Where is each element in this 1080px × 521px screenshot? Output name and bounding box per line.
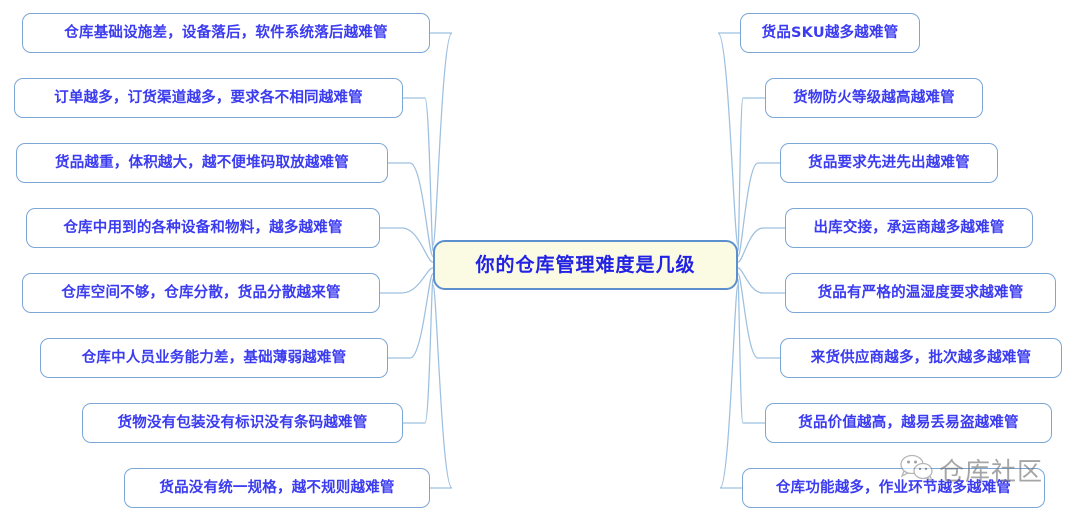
connector-right-6 <box>738 274 780 358</box>
branch-node-left-1[interactable]: 仓库基础设施差，设备落后，软件系统落后越难管 <box>22 13 430 53</box>
branch-node-left-2[interactable]: 订单越多，订货渠道越多，要求各不相同越难管 <box>14 78 403 118</box>
connector-right-3 <box>738 163 780 256</box>
connector-left-6 <box>388 274 433 358</box>
connector-right-7 <box>738 279 765 423</box>
connector-left-5 <box>380 268 433 293</box>
branch-node-label: 货品要求先进先出越难管 <box>808 156 970 171</box>
branch-node-label: 来货供应商越多，批次越多越难管 <box>811 351 1032 366</box>
branch-node-label: 仓库中用到的各种设备和物料，越多越难管 <box>63 221 342 236</box>
connector-right-8 <box>720 285 742 488</box>
branch-node-label: 货物没有包装没有标识没有条码越难管 <box>118 416 368 431</box>
branch-node-right-4[interactable]: 出库交接，承运商越多越难管 <box>785 208 1033 248</box>
central-node-label: 你的仓库管理难度是几级 <box>475 256 695 275</box>
branch-node-label: 仓库基础设施差，设备落后，软件系统落后越难管 <box>64 26 387 41</box>
branch-node-label: 货品价值越高，越易丢易盗越难管 <box>798 416 1019 431</box>
branch-node-label: 仓库功能越多，作业环节越多越难管 <box>776 481 1011 496</box>
branch-node-label: 仓库空间不够，仓库分散，货品分散越来管 <box>61 286 340 301</box>
branch-node-label: 货品越重，体积越大，越不便堆码取放越难管 <box>55 156 349 171</box>
branch-node-left-4[interactable]: 仓库中用到的各种设备和物料，越多越难管 <box>26 208 380 248</box>
branch-node-label: 仓库中人员业务能力差，基础薄弱越难管 <box>82 351 347 366</box>
branch-node-right-6[interactable]: 来货供应商越多，批次越多越难管 <box>780 338 1062 378</box>
connector-right-1 <box>718 33 740 245</box>
connector-right-4 <box>738 228 785 262</box>
connector-left-1 <box>430 33 452 245</box>
branch-node-left-6[interactable]: 仓库中人员业务能力差，基础薄弱越难管 <box>40 338 388 378</box>
connector-left-3 <box>388 163 433 256</box>
branch-node-right-3[interactable]: 货品要求先进先出越难管 <box>780 143 998 183</box>
branch-node-label: 出库交接，承运商越多越难管 <box>813 221 1004 236</box>
branch-node-left-8[interactable]: 货品没有统一规格，越不规则越难管 <box>124 468 430 508</box>
branch-node-label: 订单越多，订货渠道越多，要求各不相同越难管 <box>54 91 363 106</box>
connector-left-2 <box>403 98 433 251</box>
connector-right-5 <box>738 268 785 293</box>
branch-node-label: 货品SKU越多越难管 <box>762 26 899 41</box>
connector-right-2 <box>738 98 765 251</box>
branch-node-left-5[interactable]: 仓库空间不够，仓库分散，货品分散越来管 <box>22 273 380 313</box>
branch-node-label: 货品没有统一规格，越不规则越难管 <box>159 481 394 496</box>
connector-left-4 <box>380 228 433 262</box>
branch-node-right-8[interactable]: 仓库功能越多，作业环节越多越难管 <box>742 468 1045 508</box>
connector-left-7 <box>403 279 433 423</box>
central-node[interactable]: 你的仓库管理难度是几级 <box>433 240 738 290</box>
branch-node-left-7[interactable]: 货物没有包装没有标识没有条码越难管 <box>82 403 403 443</box>
mindmap-canvas: 仓库基础设施差，设备落后，软件系统落后越难管订单越多，订货渠道越多，要求各不相同… <box>0 0 1080 521</box>
branch-node-right-1[interactable]: 货品SKU越多越难管 <box>740 13 920 53</box>
branch-node-right-2[interactable]: 货物防火等级越高越难管 <box>765 78 983 118</box>
branch-node-right-5[interactable]: 货品有严格的温湿度要求越难管 <box>785 273 1056 313</box>
branch-node-label: 货品有严格的温湿度要求越难管 <box>818 286 1024 301</box>
branch-node-label: 货物防火等级越高越难管 <box>793 91 955 106</box>
branch-node-right-7[interactable]: 货品价值越高，越易丢易盗越难管 <box>765 403 1052 443</box>
connector-left-8 <box>430 285 452 488</box>
branch-node-left-3[interactable]: 货品越重，体积越大，越不便堆码取放越难管 <box>16 143 388 183</box>
